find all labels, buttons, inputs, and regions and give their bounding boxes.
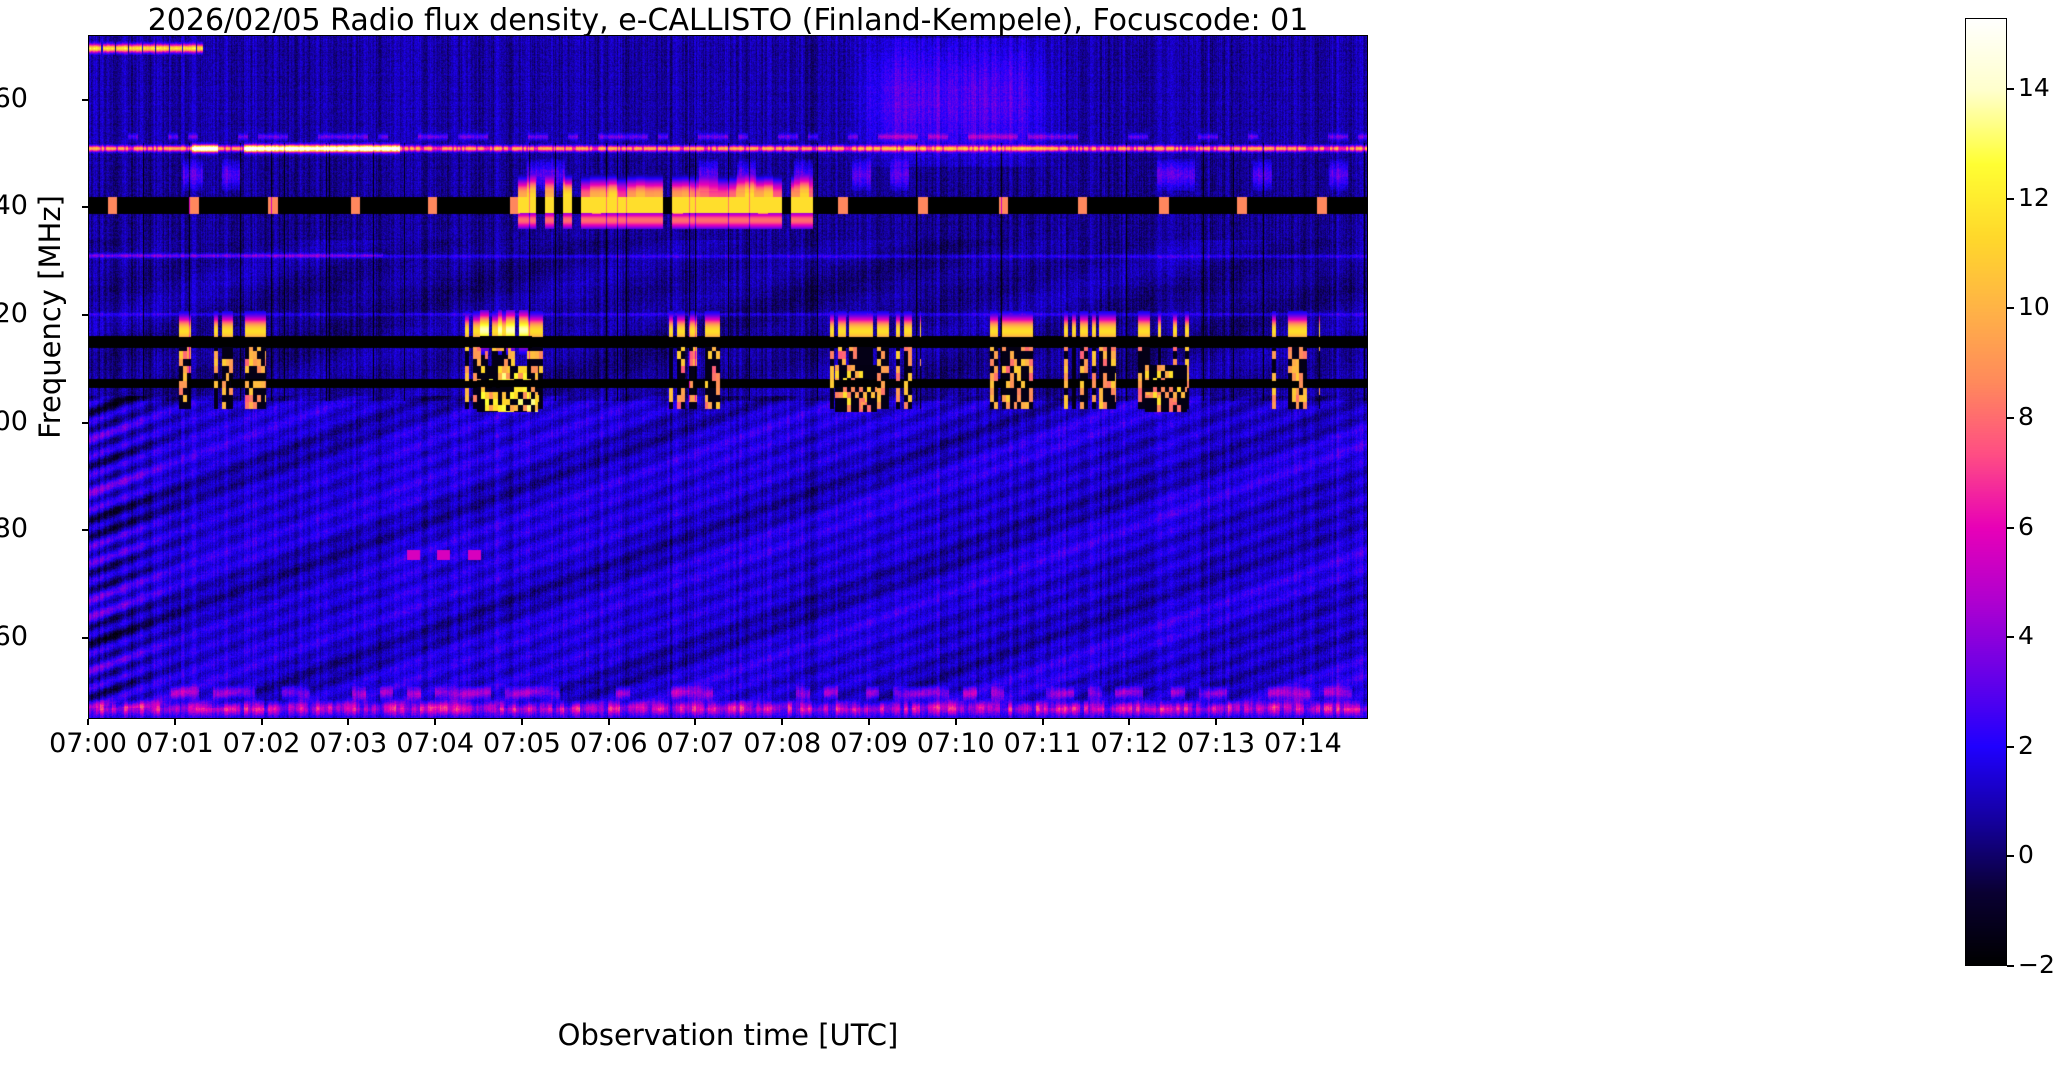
page-title: 2026/02/05 Radio flux density, e-CALLIST… <box>88 4 1368 38</box>
x-tick-mark <box>174 719 176 725</box>
y-tick-label: 60 <box>0 621 28 652</box>
y-tick-mark <box>82 637 88 639</box>
x-tick-mark <box>347 719 349 725</box>
colorbar-tick-mark <box>2007 855 2014 857</box>
colorbar-tick-label: −2 <box>2018 950 2055 979</box>
y-tick-mark <box>82 422 88 424</box>
colorbar-tick-label: 8 <box>2018 402 2034 431</box>
x-tick-mark <box>261 719 263 725</box>
x-tick-mark <box>1302 719 1304 725</box>
colorbar[interactable] <box>1965 18 2007 966</box>
x-tick-mark <box>434 719 436 725</box>
x-tick-mark <box>87 719 89 725</box>
colorbar-tick-label: 2 <box>2018 731 2034 760</box>
x-tick-mark <box>1042 719 1044 725</box>
x-tick-mark <box>694 719 696 725</box>
x-axis-label: Observation time [UTC] <box>88 1018 1368 1052</box>
y-tick-label: 120 <box>0 298 28 329</box>
x-tick-mark <box>1215 719 1217 725</box>
x-tick-mark <box>521 719 523 725</box>
colorbar-tick-mark <box>2007 307 2014 309</box>
colorbar-tick-mark <box>2007 636 2014 638</box>
y-tick-label: 80 <box>0 513 28 544</box>
colorbar-tick-mark <box>2007 417 2014 419</box>
y-tick-mark <box>82 314 88 316</box>
colorbar-tick-mark <box>2007 965 2014 967</box>
colorbar-tick-label: 6 <box>2018 512 2034 541</box>
colorbar-tick-mark <box>2007 527 2014 529</box>
x-tick-mark <box>608 719 610 725</box>
colorbar-tick-label: 4 <box>2018 621 2034 650</box>
colorbar-tick-label: 14 <box>2018 73 2050 102</box>
x-tick-mark <box>781 719 783 725</box>
colorbar-tick-label: 0 <box>2018 840 2034 869</box>
y-tick-label: 160 <box>0 83 28 114</box>
y-tick-mark <box>82 206 88 208</box>
figure-root: 2026/02/05 Radio flux density, e-CALLIST… <box>0 0 2066 1067</box>
spectrogram-panel[interactable] <box>88 35 1368 719</box>
colorbar-tick-mark <box>2007 198 2014 200</box>
y-tick-mark <box>82 99 88 101</box>
colorbar-tick-mark <box>2007 746 2014 748</box>
y-tick-mark <box>82 529 88 531</box>
x-tick-mark <box>868 719 870 725</box>
y-tick-label: 100 <box>0 406 28 437</box>
x-tick-mark <box>1128 719 1130 725</box>
colorbar-gradient <box>1965 18 2007 966</box>
colorbar-tick-label: 10 <box>2018 292 2050 321</box>
colorbar-tick-label: 12 <box>2018 183 2050 212</box>
x-tick-mark <box>955 719 957 725</box>
spectrogram-image[interactable] <box>88 35 1368 719</box>
x-tick-label: 07:14 <box>1233 728 1373 759</box>
y-axis-label: Frequency [MHz] <box>33 117 67 517</box>
y-tick-label: 140 <box>0 190 28 221</box>
colorbar-tick-mark <box>2007 88 2014 90</box>
